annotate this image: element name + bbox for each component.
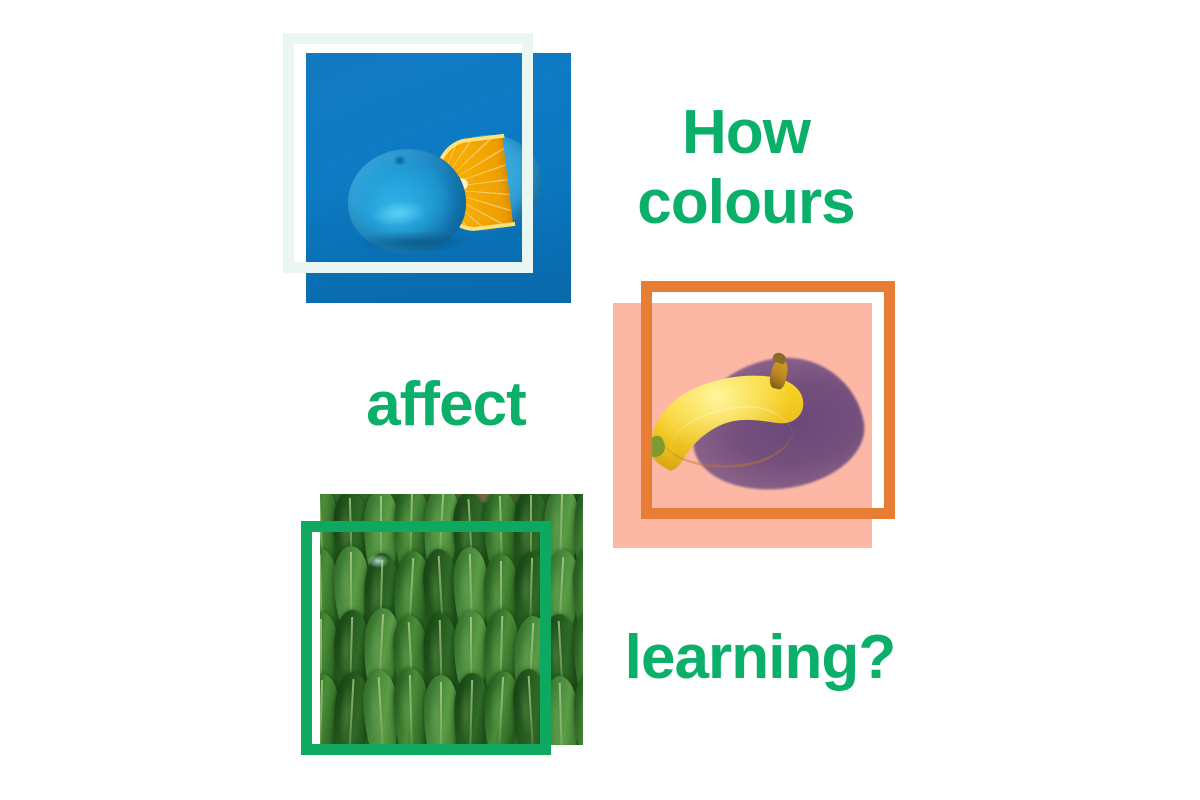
- poster-canvas: How colours affect learning?: [0, 0, 1200, 800]
- orange-square-frame: [641, 281, 895, 519]
- pale-square-frame: [283, 33, 533, 273]
- green-square-frame: [301, 521, 551, 755]
- headline-line-1: How colours: [594, 98, 898, 238]
- headline-line-3: learning?: [570, 623, 950, 693]
- headline-line-2: affect: [296, 370, 596, 440]
